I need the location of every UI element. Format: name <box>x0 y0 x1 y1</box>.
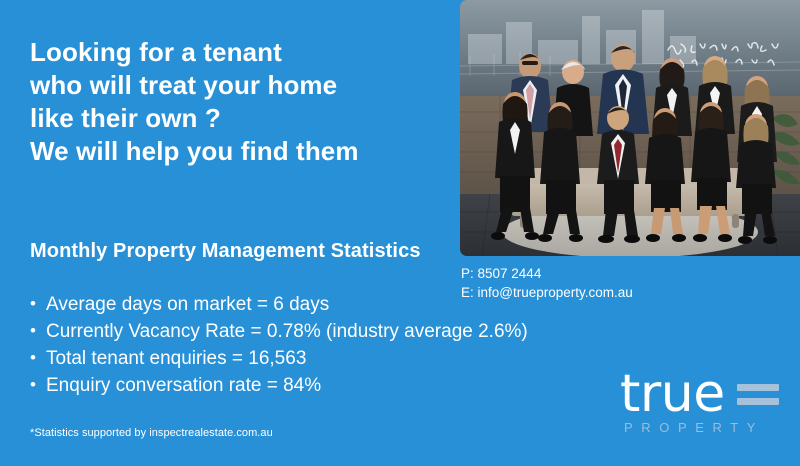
equals-mark-icon <box>737 384 779 405</box>
contact-phone: P: 8507 2444 <box>461 264 633 283</box>
list-item: Currently Vacancy Rate = 0.78% (industry… <box>30 318 528 345</box>
stats-heading: Monthly Property Management Statistics <box>30 240 421 263</box>
headline-line-4: We will help you find them <box>30 135 460 168</box>
team-photo <box>460 0 800 256</box>
headline-line-2: who will treat your home <box>30 69 460 102</box>
logo-subtitle: PROPERTY <box>624 420 764 435</box>
team-photo-image <box>460 0 800 256</box>
true-property-logo: true PROPERTY <box>620 368 790 448</box>
logo-wordmark: true <box>620 368 725 420</box>
list-item: Average days on market = 6 days <box>30 291 528 318</box>
statistics-source-footnote: *Statistics supported by inspectrealesta… <box>30 427 273 439</box>
list-item: Total tenant enquiries = 16,563 <box>30 345 528 372</box>
stats-list: Average days on market = 6 days Currentl… <box>30 291 528 399</box>
headline: Looking for a tenant who will treat your… <box>30 36 460 168</box>
list-item: Enquiry conversation rate = 84% <box>30 372 528 399</box>
headline-line-1: Looking for a tenant <box>30 36 460 69</box>
contact-details: P: 8507 2444 E: info@trueproperty.com.au <box>461 264 633 302</box>
headline-line-3: like their own ? <box>30 102 460 135</box>
contact-email: E: info@trueproperty.com.au <box>461 283 633 302</box>
property-management-stats-poster: Looking for a tenant who will treat your… <box>0 0 800 466</box>
